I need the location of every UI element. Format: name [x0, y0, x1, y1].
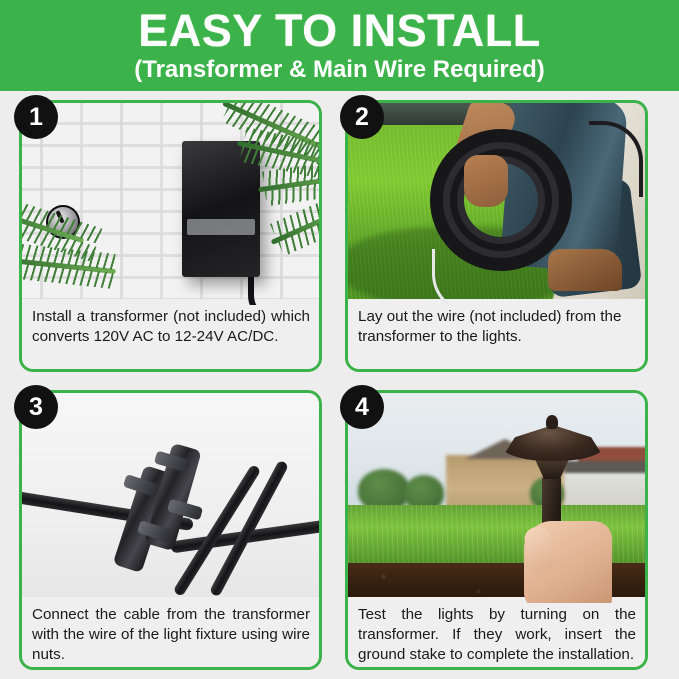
steps-grid: Install a transformer (not included) whi…	[19, 100, 660, 670]
step-badge-3: 3	[14, 385, 58, 429]
palm-frond-icon	[258, 175, 319, 192]
step-3-caption: Connect the cable from the transformer w…	[22, 597, 319, 667]
step-1-image	[22, 103, 319, 305]
step-badge-1: 1	[14, 95, 58, 139]
step-4-caption: Test the lights by turning on the transf…	[348, 597, 645, 667]
step-badge-4: 4	[340, 385, 384, 429]
step-2-caption: Lay out the wire (not included) from the…	[348, 299, 645, 369]
path-light-finial	[546, 415, 558, 429]
step-card-2: Lay out the wire (not included) from the…	[345, 100, 648, 372]
page-title: EASY TO INSTALL	[138, 6, 541, 56]
page-subtitle: (Transformer & Main Wire Required)	[134, 55, 545, 85]
step-3-image	[22, 393, 319, 603]
wire-run-to-ground	[432, 249, 503, 305]
header-banner: EASY TO INSTALL (Transformer & Main Wire…	[0, 0, 679, 91]
step-card-3: Connect the cable from the transformer w…	[19, 390, 322, 670]
palm-frond-icon	[22, 257, 116, 274]
step-2-image	[348, 103, 645, 305]
step-card-4: Test the lights by turning on the transf…	[345, 390, 648, 670]
step-badge-2: 2	[340, 95, 384, 139]
step-card-1: Install a transformer (not included) whi…	[19, 100, 322, 372]
person-hand	[464, 155, 508, 207]
hand-holding-light	[524, 521, 612, 603]
step-1-caption: Install a transformer (not included) whi…	[22, 299, 319, 369]
step-4-image	[348, 393, 645, 603]
person-boot	[548, 249, 622, 291]
